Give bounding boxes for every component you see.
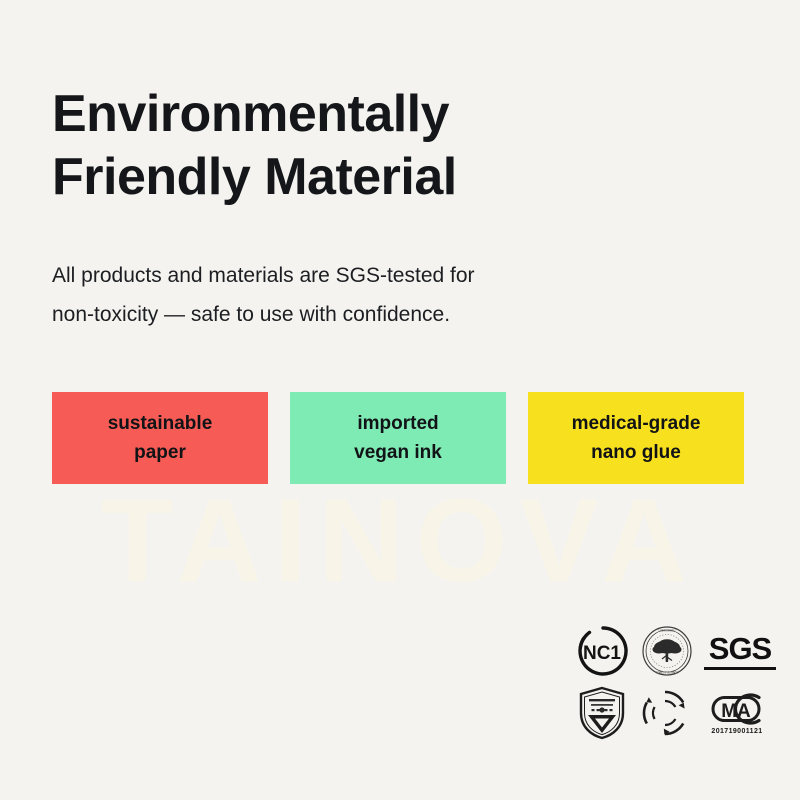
page-subtitle-line-2: non-toxicity — safe to use with confiden… [52,296,692,335]
page-title-line-1: Environmentally [52,83,732,146]
cma-certification-label: MA [721,701,751,722]
sgs-certification-icon: SGS [704,623,776,679]
recycle-certification-icon [638,685,692,741]
certification-badge-group: NC1 [576,620,772,746]
material-tag-sustainable-paper: sustainable paper [52,392,268,484]
poster-canvas: TAINOVA Environmentally Friendly Materia… [0,0,800,800]
page-subtitle-line-1: All products and materials are SGS-teste… [52,257,692,296]
material-tag-label-line-2: paper [134,438,186,467]
shield-certification-icon [576,685,628,741]
material-tag-label-line-1: sustainable [108,409,213,438]
material-tag-list: sustainable paper imported vegan ink med… [52,392,754,484]
brand-watermark: TAINOVA [0,482,800,600]
material-tag-imported-vegan-ink: imported vegan ink [290,392,506,484]
sgs-certification-label: SGS [709,633,771,664]
certification-badge-row-1: NC1 [576,622,772,680]
nc1-certification-icon: NC1 [576,623,630,679]
cma-certification-icon: MA 201719001121 [702,684,772,742]
page-subtitle: All products and materials are SGS-teste… [52,257,692,335]
cma-certification-code: 201719001121 [711,728,762,735]
material-tag-label-line-2: vegan ink [354,438,442,467]
material-tag-medical-grade-nano-glue: medical-grade nano glue [528,392,744,484]
nc1-certification-label: NC1 [583,643,621,664]
svg-text:* CERTIFIED *: * CERTIFIED * [658,629,675,633]
page-title: Environmentally Friendly Material [52,83,732,210]
material-tag-label-line-1: imported [357,409,438,438]
sgs-underline-rule [704,667,776,670]
material-tag-label-line-2: nano glue [591,438,681,467]
page-title-line-2: Friendly Material [52,146,732,209]
material-tag-label-line-1: medical-grade [572,409,701,438]
svg-text:FOREST SOURCE: FOREST SOURCE [656,671,679,675]
certification-badge-row-2: MA 201719001121 [576,684,772,742]
tree-seal-certification-icon: * CERTIFIED * FOREST SOURCE [640,623,694,679]
